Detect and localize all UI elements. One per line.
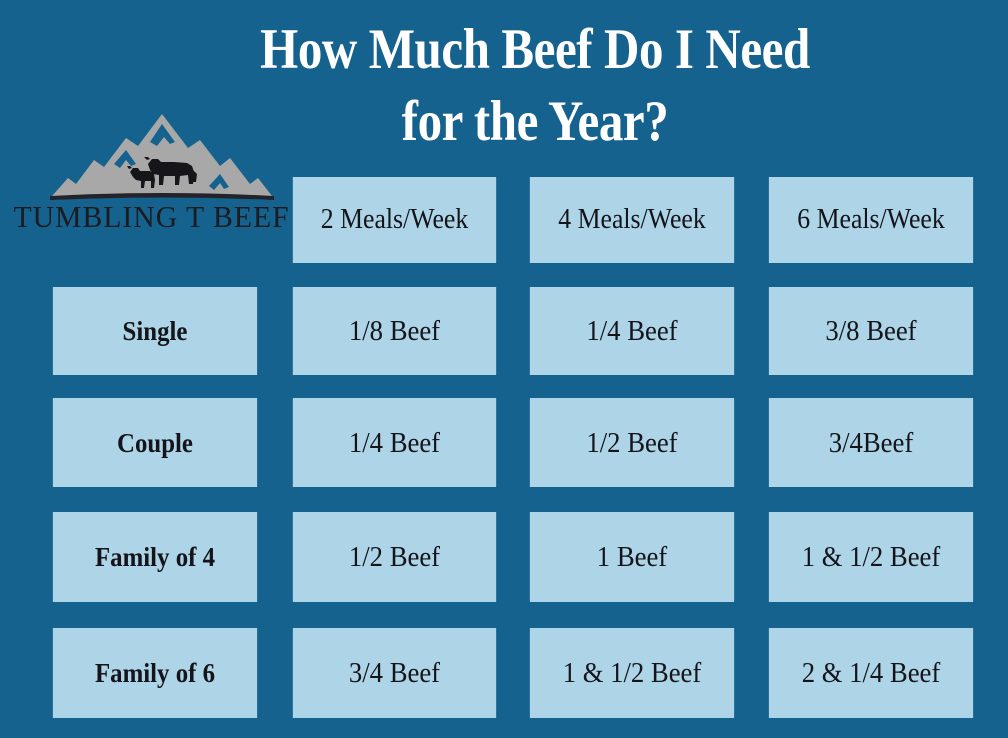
table-cell-family6-4meals: 1 & 1/2 Beef (530, 628, 734, 718)
table-cell-family6-6meals: 2 & 1/4 Beef (769, 628, 973, 718)
table-cell-couple-2meals: 1/4 Beef (293, 398, 496, 487)
row-label-family-of-6: Family of 6 (53, 628, 257, 718)
table-cell-single-2meals: 1/8 Beef (293, 287, 496, 375)
table-cell-family4-6meals: 1 & 1/2 Beef (769, 512, 973, 602)
column-header-2-meals: 2 Meals/Week (293, 177, 496, 263)
table-cell-couple-4meals: 1/2 Beef (530, 398, 734, 487)
row-label-family-of-4: Family of 4 (53, 512, 257, 602)
table-cell-single-4meals: 1/4 Beef (530, 287, 734, 375)
column-header-4-meals: 4 Meals/Week (530, 177, 734, 263)
beef-quantity-table: 2 Meals/Week 4 Meals/Week 6 Meals/Week S… (0, 0, 1008, 738)
table-cell-family4-2meals: 1/2 Beef (293, 512, 496, 602)
table-cell-family4-4meals: 1 Beef (530, 512, 734, 602)
table-cell-single-6meals: 3/8 Beef (769, 287, 973, 375)
row-label-couple: Couple (53, 398, 257, 487)
table-cell-couple-6meals: 3/4Beef (769, 398, 973, 487)
row-label-single: Single (53, 287, 257, 375)
column-header-6-meals: 6 Meals/Week (769, 177, 973, 263)
table-cell-family6-2meals: 3/4 Beef (293, 628, 496, 718)
